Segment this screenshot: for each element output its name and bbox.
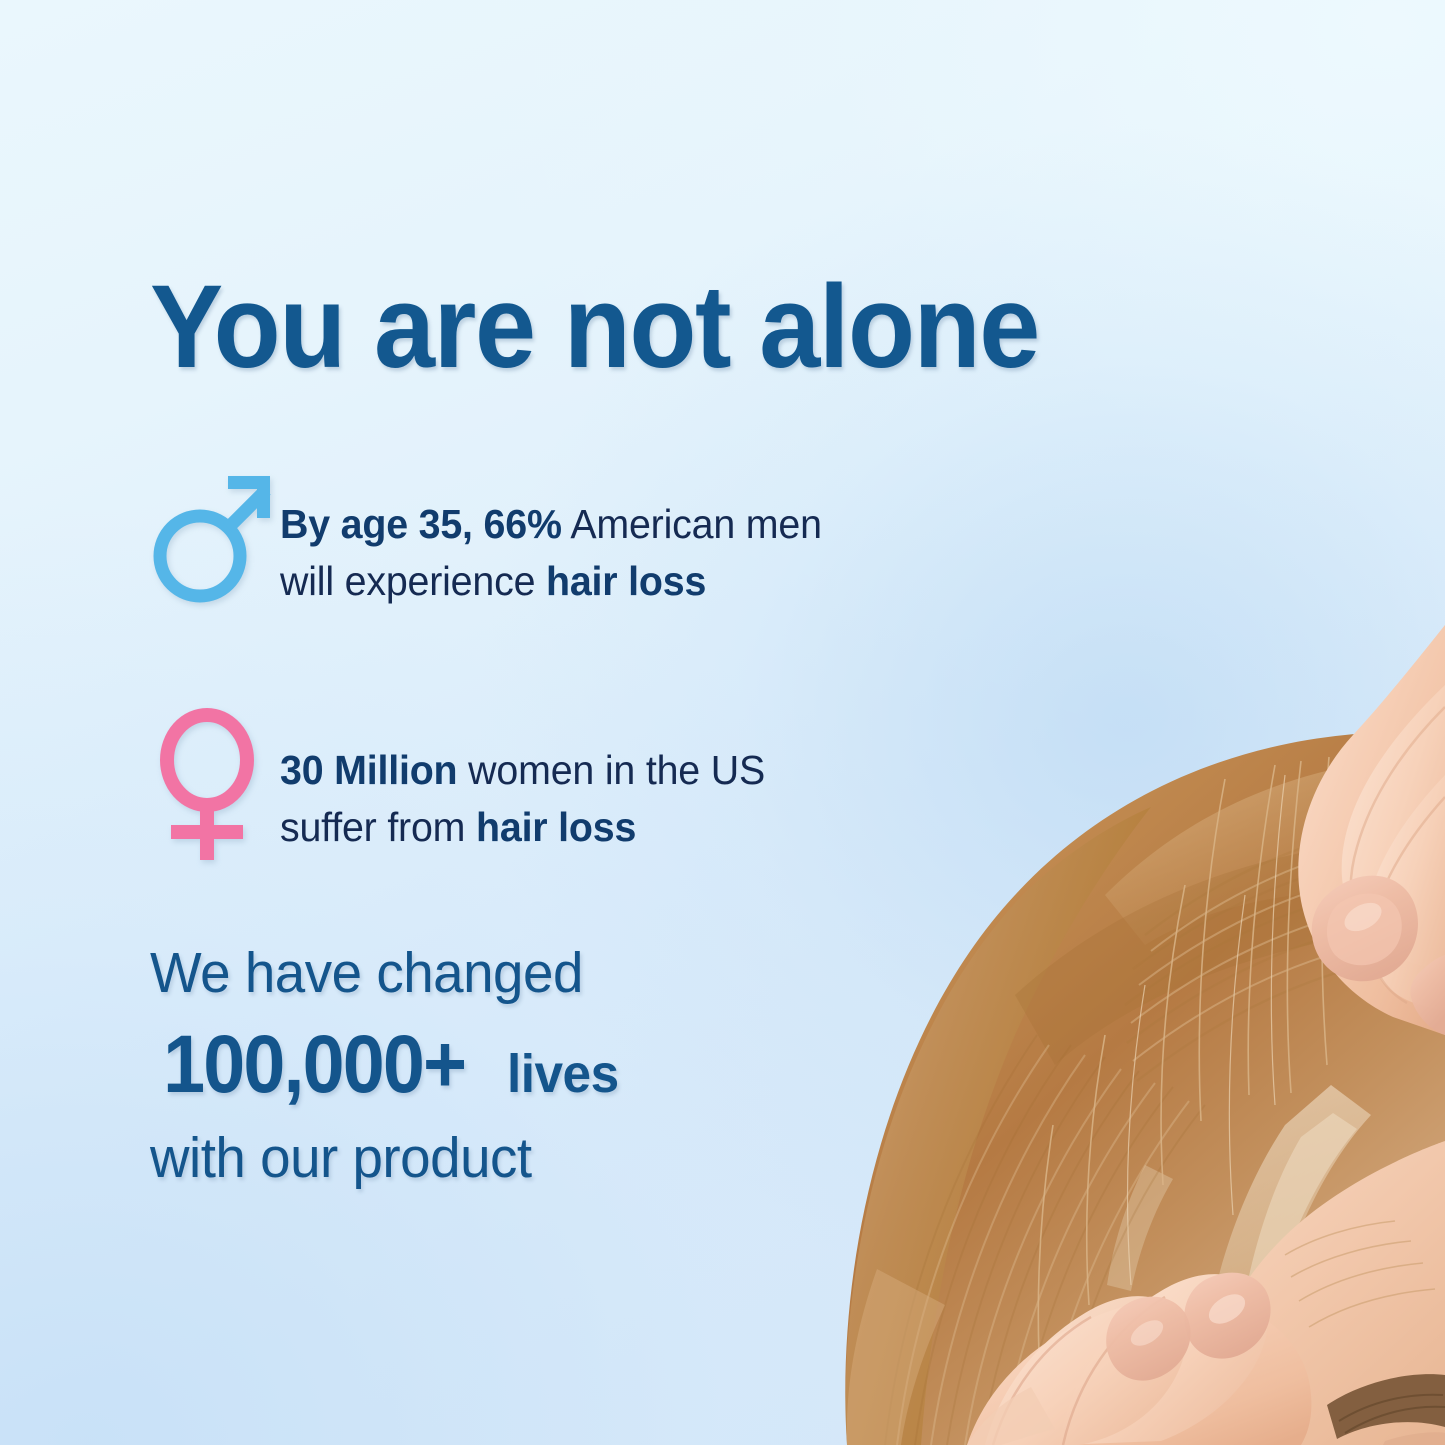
lives-count: 100,000+: [163, 1024, 465, 1106]
poster-root: You are not alone By age 35, 66% America…: [0, 0, 1445, 1445]
stat-row-male: By age 35, 66% American men will experie…: [150, 468, 844, 609]
page-title: You are not alone: [150, 268, 1039, 386]
stat-female-line1: 30 Million women in the US: [280, 742, 765, 799]
stat-female-line2: suffer from hair loss: [280, 799, 765, 856]
male-gender-icon: [150, 468, 280, 608]
female-gender-icon: [150, 708, 280, 868]
hero-photo-illustration: [585, 565, 1445, 1445]
lives-line-3: with our product: [150, 1130, 603, 1187]
stat-row-female: 30 Million women in the US suffer from h…: [150, 708, 785, 868]
stat-female-bold1: 30 Million: [280, 747, 457, 793]
stat-male-bold2: hair loss: [546, 558, 706, 604]
stat-male-rest2: will experience: [280, 558, 546, 604]
female-symbol-svg: [150, 708, 278, 868]
stat-female-bold2: hair loss: [476, 804, 636, 850]
stat-male-bold1: By age 35, 66%: [280, 501, 562, 547]
lives-changed-block: We have changed 100,000+ lives with our …: [150, 945, 622, 1187]
lives-line-1: We have changed: [150, 945, 603, 1002]
stat-male-line1: By age 35, 66% American men: [280, 496, 822, 553]
stat-female-rest1: women in the US: [457, 747, 765, 793]
stat-female-rest2: suffer from: [280, 804, 476, 850]
male-symbol-svg: [150, 468, 278, 608]
lives-word: lives: [507, 1047, 619, 1101]
stat-male-line2: will experience hair loss: [280, 553, 822, 610]
lives-line-2: 100,000+ lives: [150, 1024, 622, 1106]
hero-photo-woman-hair: [585, 565, 1445, 1445]
stat-text-male: By age 35, 66% American men will experie…: [280, 468, 822, 609]
stat-male-rest1: American men: [562, 501, 822, 547]
stat-text-female: 30 Million women in the US suffer from h…: [280, 708, 765, 855]
